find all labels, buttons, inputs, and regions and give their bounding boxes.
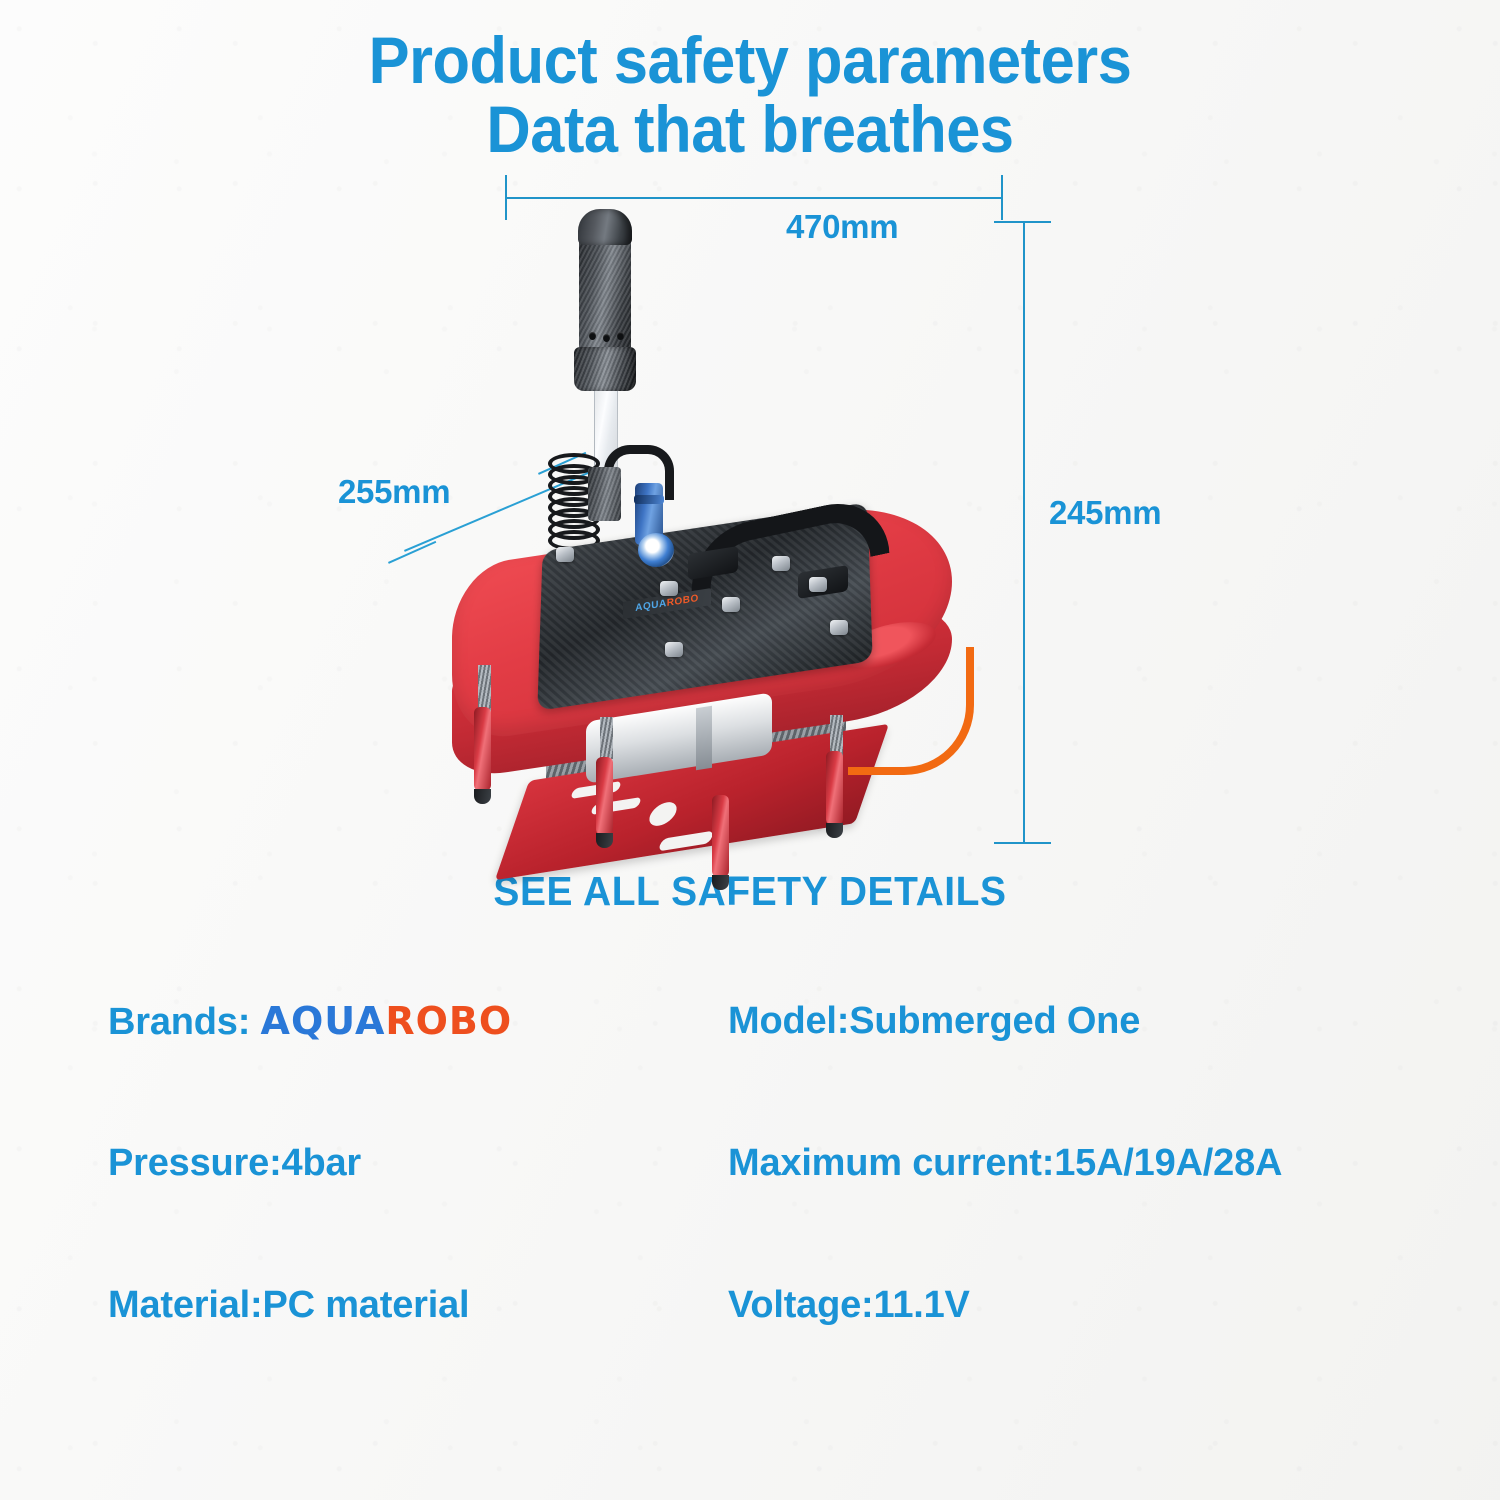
support-post-foot (712, 875, 729, 890)
spec-row: Pressure:4bar Maximum current:15A/19A/28… (108, 1137, 1428, 1189)
aquarobo-logo: AQUAROBO (261, 999, 513, 1043)
spec-model: Model:Submerged One (728, 1000, 1428, 1043)
support-post-foot (596, 833, 613, 848)
height-dimension-label: 245mm (1049, 494, 1161, 532)
support-post-foot (474, 789, 491, 804)
spec-pressure: Pressure:4bar (108, 1142, 728, 1185)
plate-screw (660, 581, 678, 596)
spec-maximum-current: Maximum current:15A/19A/28A (728, 1142, 1428, 1185)
snorkel-intake-hole (617, 332, 624, 340)
plate-screw (830, 620, 848, 635)
snorkel-intake-hole (603, 334, 610, 342)
support-post-foot (826, 823, 843, 838)
snorkel-cap (578, 209, 632, 245)
aquarobo-logo-aqua: AQUA (261, 999, 386, 1043)
title-line-2: Data that breathes (53, 95, 1448, 164)
plate-screw (556, 547, 574, 562)
snorkel-intake-hole (589, 332, 596, 340)
plate-screw (722, 597, 740, 612)
safety-details-heading: SEE ALL SAFETY DETAILS (38, 868, 1463, 915)
tube-collar (588, 467, 621, 521)
leg-tube (478, 665, 491, 713)
plate-screw (809, 577, 827, 592)
product-photo: AQUAROBO (360, 195, 1060, 885)
spec-brands-label: Brands: (108, 1001, 250, 1043)
snorkel-collar (574, 347, 636, 391)
compressor-motor-band (696, 706, 712, 771)
spec-brands: Brands: AQUAROBO (108, 999, 728, 1044)
product-diagram: 470mm 245mm 255mm AQUAROB (0, 160, 1500, 880)
plate-screw (665, 642, 683, 657)
specifications-grid: Brands: AQUAROBO Model:Submerged One Pre… (108, 995, 1428, 1421)
spec-row: Material:PC material Voltage:11.1V (108, 1279, 1428, 1331)
spec-row: Brands: AQUAROBO Model:Submerged One (108, 995, 1428, 1047)
spec-material: Material:PC material (108, 1284, 728, 1327)
spec-voltage: Voltage:11.1V (728, 1284, 1428, 1327)
plate-screw (772, 556, 790, 571)
support-post (596, 757, 613, 835)
blue-valve-band (634, 495, 664, 504)
aquarobo-logo-robo: ROBO (385, 999, 512, 1043)
support-post (712, 795, 729, 877)
valve-knob (638, 533, 674, 567)
support-post (474, 707, 491, 791)
title-line-1: Product safety parameters (53, 26, 1448, 95)
page-title: Product safety parameters Data that brea… (53, 26, 1448, 163)
leg-tube (600, 717, 613, 759)
support-post (826, 751, 843, 825)
sticker-aqua-text: AQUA (635, 598, 666, 614)
